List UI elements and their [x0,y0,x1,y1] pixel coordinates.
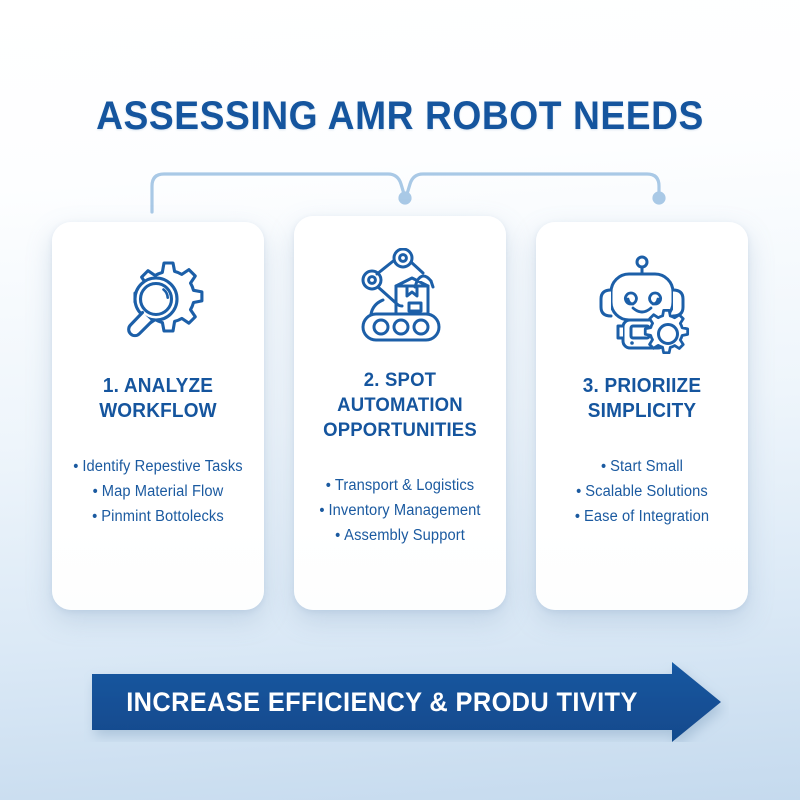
card-analyze-workflow[interactable]: 1. ANALYZE WORKFLOW •Identify Repestive … [52,222,264,610]
card-prioriize-simplicity[interactable]: 3. PRIORIIZE SIMPLICITY •Start Small •Sc… [536,222,748,610]
list-item-label: Start Small [610,458,683,475]
card-title: 1. ANALYZE WORKFLOW [71,374,246,424]
bullet-glyph: • [575,508,580,525]
bullet-glyph: • [319,502,324,519]
list-item-label: Inventory Management [328,502,480,519]
outcome-arrow-banner[interactable] [84,662,729,742]
list-item-label: Assembly Support [344,527,465,544]
card-spot-automation-opportunities[interactable]: 2. SPOT AUTOMATION OPPORTUNITIES •Transp… [294,216,506,610]
list-item-label: Ease of Integration [584,508,709,525]
connector-dot-center [398,191,411,204]
list-item-label: Transport & Logistics [335,477,474,494]
list-item: •Scalable Solutions [554,479,731,504]
list-item: •Map Material Flow [70,479,247,504]
card-bullet-list: •Identify Repestive Tasks •Map Material … [66,454,250,529]
list-item: •Pinmint Bottolecks [70,504,247,529]
card-bullet-list: •Transport & Logistics •Inventory Manage… [302,473,498,548]
list-item-label: Identify Repestive Tasks [82,458,242,475]
list-item-label: Map Material Flow [102,483,224,500]
list-item: •Ease of Integration [554,504,731,529]
card-title: 2. SPOT AUTOMATION OPPORTUNITIES [307,368,493,443]
robot-gear-icon [587,250,697,358]
list-item: •Start Small [554,454,731,479]
arrow-shape [92,662,721,742]
list-item: •Transport & Logistics [306,473,494,498]
robot-arm-conveyor-icon [341,244,459,352]
list-item-label: Pinmint Bottolecks [101,508,224,525]
bullet-glyph: • [576,483,581,500]
card-bullet-list: •Start Small •Scalable Solutions •Ease o… [550,454,734,529]
connector-dot-right [652,191,665,204]
infographic-canvas: ASSESSING AMR ROBOT NEEDS 1. ANALYZE WOR… [0,0,800,800]
list-item: •Assembly Support [306,523,494,548]
card-title: 3. PRIORIIZE SIMPLICITY [555,374,730,424]
gear-magnifier-icon [106,250,210,358]
bracket-connector [140,160,670,222]
bullet-glyph: • [92,508,97,525]
bullet-glyph: • [93,483,98,500]
bullet-glyph: • [73,458,78,475]
page-title: ASSESSING AMR ROBOT NEEDS [28,94,772,138]
list-item: •Inventory Management [306,498,494,523]
bullet-glyph: • [335,527,340,544]
bullet-glyph: • [326,477,331,494]
list-item-label: Scalable Solutions [585,483,708,500]
bullet-glyph: • [601,458,606,475]
list-item: •Identify Repestive Tasks [70,454,247,479]
